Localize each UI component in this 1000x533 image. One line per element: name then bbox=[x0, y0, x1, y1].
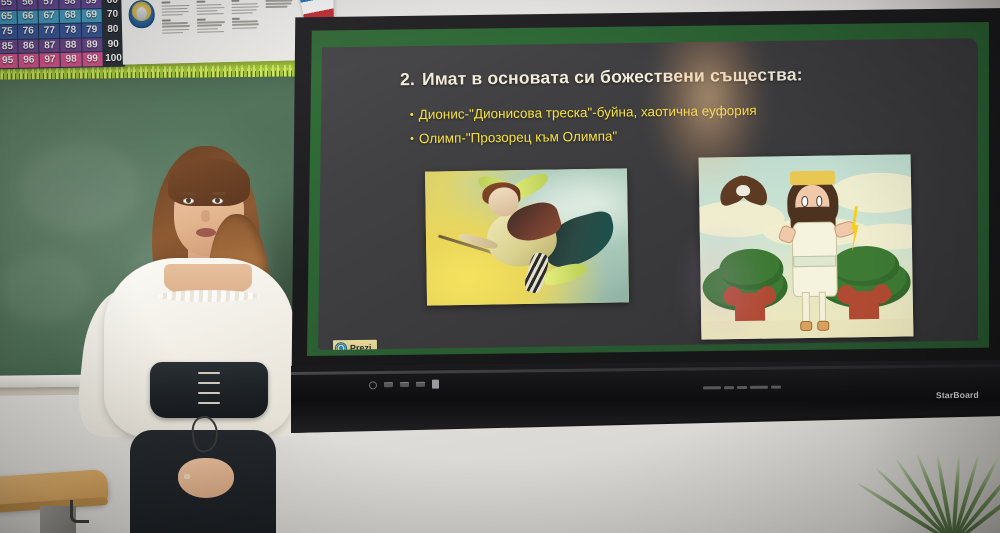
number-cell: 75 bbox=[0, 25, 17, 39]
hair-top bbox=[168, 158, 250, 206]
port-icon[interactable] bbox=[737, 386, 747, 389]
slide-bullet-list: •Дионис-"Дионисова треска"-буйна, хаотич… bbox=[410, 101, 931, 155]
prezi-logo-icon bbox=[335, 342, 347, 350]
number-cell: 65 bbox=[0, 10, 17, 24]
number-cell: 69 bbox=[81, 9, 101, 23]
number-cell: 98 bbox=[61, 53, 81, 67]
display-screen[interactable]: 2.Имат в основата си божествени същества… bbox=[307, 22, 989, 356]
menu-button[interactable] bbox=[384, 382, 393, 387]
number-cell: 58 bbox=[60, 0, 80, 9]
port-icon[interactable] bbox=[724, 386, 734, 389]
number-cell: 59 bbox=[81, 0, 101, 8]
number-cell: 99 bbox=[82, 53, 102, 67]
slide-title-number: 2. bbox=[400, 69, 415, 89]
nose bbox=[201, 210, 210, 222]
usb-port-icon[interactable] bbox=[432, 380, 439, 389]
number-cell: 68 bbox=[60, 9, 80, 23]
corset-belt bbox=[150, 362, 268, 418]
lyrics-column bbox=[161, 0, 192, 58]
lyrics-column bbox=[231, 0, 262, 56]
slide-title: 2.Имат в основата си божествени същества… bbox=[400, 63, 930, 90]
number-cell: 76 bbox=[18, 25, 38, 39]
number-cell: 87 bbox=[39, 39, 59, 53]
number-cell: 100 bbox=[103, 52, 123, 66]
eagle-icon bbox=[718, 178, 769, 202]
blouse-ruffle bbox=[158, 290, 258, 302]
number-cell: 70 bbox=[102, 8, 122, 22]
list-item: •Дионис-"Дионисова треска"-буйна, хаотич… bbox=[410, 101, 930, 122]
number-cell: 85 bbox=[0, 40, 18, 54]
hdmi-port-icon[interactable] bbox=[703, 386, 721, 389]
lyrics-column bbox=[196, 0, 227, 57]
number-cell: 86 bbox=[18, 39, 38, 53]
interactive-display[interactable]: 2.Имат в основата си божествени същества… bbox=[291, 8, 1000, 433]
power-icon[interactable] bbox=[369, 381, 377, 389]
starboard-brand-label: StarBoard bbox=[936, 390, 979, 400]
number-cell: 80 bbox=[103, 23, 123, 37]
eyebrow-left bbox=[182, 192, 196, 195]
number-cell: 88 bbox=[61, 38, 81, 52]
eyebrow-right bbox=[212, 192, 226, 195]
finger-ring bbox=[184, 474, 190, 479]
pupil-right bbox=[215, 198, 220, 203]
number-cell: 60 bbox=[102, 0, 122, 8]
number-cell: 55 bbox=[0, 0, 17, 10]
number-cell: 78 bbox=[60, 24, 80, 38]
source-button[interactable] bbox=[400, 382, 409, 387]
number-cell: 57 bbox=[39, 0, 59, 9]
number-cell: 89 bbox=[82, 38, 102, 52]
number-cell: 77 bbox=[39, 24, 59, 38]
student-presenter bbox=[60, 140, 300, 533]
screenshot-root: 5556575859606566676869707576777879808586… bbox=[0, 0, 1000, 533]
coat-of-arms-emblem bbox=[128, 0, 155, 28]
bullet-text: Дионис-"Дионисова треска"-буйна, хаотичн… bbox=[419, 103, 757, 122]
display-control-row[interactable] bbox=[369, 380, 439, 390]
lyrics-columns bbox=[161, 0, 296, 58]
zeus-figure bbox=[786, 175, 841, 329]
number-cell: 56 bbox=[17, 0, 37, 9]
prezi-badge[interactable]: Prezi bbox=[333, 340, 377, 350]
number-cell: 67 bbox=[39, 10, 59, 24]
bullet-dot-icon: • bbox=[410, 109, 414, 121]
pupil-left bbox=[186, 198, 191, 203]
list-item: •Олимп-"Прозорец към Олимпа" bbox=[410, 125, 930, 146]
volume-button[interactable] bbox=[416, 382, 425, 387]
number-cell: 90 bbox=[103, 37, 123, 51]
number-cell: 96 bbox=[19, 54, 39, 68]
prezi-label: Prezi bbox=[350, 343, 372, 350]
port-icon[interactable] bbox=[771, 386, 781, 389]
bullet-dot-icon: • bbox=[410, 133, 414, 145]
number-cell: 79 bbox=[82, 23, 102, 37]
vga-port-icon[interactable] bbox=[750, 386, 768, 389]
bullet-text: Олимп-"Прозорец към Олимпа" bbox=[419, 129, 617, 146]
number-cell: 95 bbox=[0, 54, 18, 68]
number-cell: 66 bbox=[18, 10, 38, 24]
zeus-cartoon bbox=[699, 154, 914, 339]
slide-title-text: Имат в основата си божествени същества: bbox=[422, 64, 803, 89]
mouth bbox=[196, 228, 216, 237]
dionysus-painting bbox=[425, 168, 629, 305]
prezi-slide[interactable]: 2.Имат в основата си божествени същества… bbox=[318, 38, 978, 350]
number-cell: 97 bbox=[40, 53, 60, 67]
hundreds-number-chart: 5556575859606566676869707576777879808586… bbox=[0, 0, 125, 69]
